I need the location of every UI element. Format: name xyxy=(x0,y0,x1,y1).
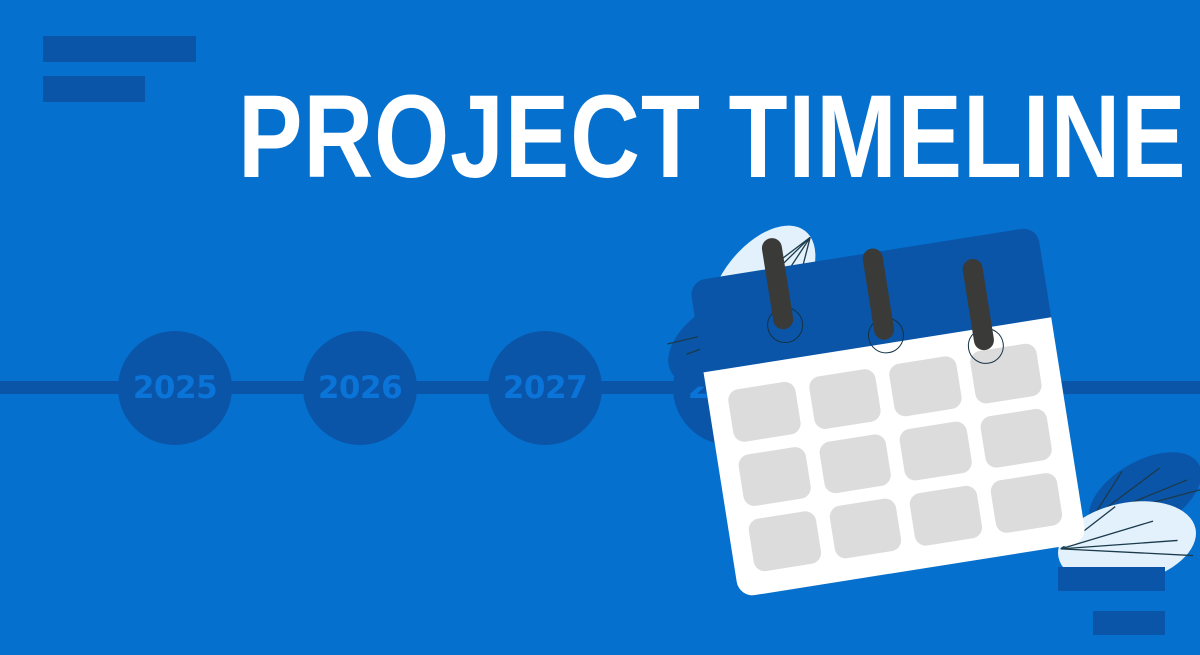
calendar-date-cell xyxy=(817,433,892,496)
calendar-illustration xyxy=(689,226,1087,597)
decor-bar-top-left-narrow xyxy=(43,76,145,102)
decor-bar-bottom-right-narrow xyxy=(1093,611,1165,635)
timeline-node-2025[interactable]: 2025 xyxy=(118,331,232,445)
calendar-date-cell xyxy=(908,485,983,548)
calendar-date-cell xyxy=(747,510,822,573)
poster-canvas: PROJECT TIMELINE 2025 2026 2027 2028 xyxy=(0,0,1200,655)
calendar-date-cell xyxy=(737,445,812,508)
timeline-node-label: 2026 xyxy=(318,370,402,406)
calendar-date-cell xyxy=(807,368,882,431)
calendar-date-grid xyxy=(727,342,1064,573)
calendar-date-cell xyxy=(898,420,973,483)
page-title: PROJECT TIMELINE xyxy=(238,78,1187,196)
calendar-date-cell xyxy=(727,380,802,443)
calendar-date-cell xyxy=(989,472,1064,535)
calendar-date-cell xyxy=(828,497,903,560)
decor-bar-top-left-wide xyxy=(43,36,196,62)
timeline-node-2027[interactable]: 2027 xyxy=(488,331,602,445)
timeline-node-2026[interactable]: 2026 xyxy=(303,331,417,445)
calendar-date-cell xyxy=(888,355,963,418)
timeline-node-label: 2025 xyxy=(133,370,217,406)
calendar-date-cell xyxy=(978,407,1053,470)
timeline-node-label: 2027 xyxy=(503,370,587,406)
decor-bar-bottom-right-wide xyxy=(1058,567,1165,591)
